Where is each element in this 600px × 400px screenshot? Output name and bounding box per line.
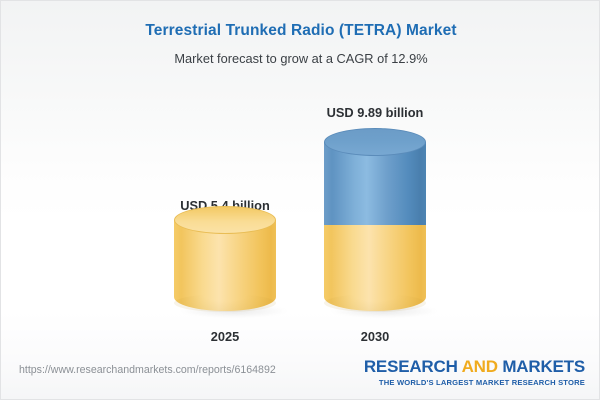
logo-wordmark: RESEARCH AND MARKETS bbox=[364, 357, 585, 376]
page-title: Terrestrial Trunked Radio (TETRA) Market bbox=[1, 21, 600, 41]
footer: https://www.researchandmarkets.com/repor… bbox=[1, 347, 600, 399]
x-axis-label-2025: 2025 bbox=[174, 329, 276, 344]
bar-value-label-2030: USD 9.89 billion bbox=[284, 105, 466, 120]
logo-word-research: RESEARCH bbox=[364, 357, 458, 376]
report-url[interactable]: https://www.researchandmarkets.com/repor… bbox=[19, 364, 276, 376]
logo-word-and: AND bbox=[462, 357, 498, 376]
chart-subtitle: Market forecast to grow at a CAGR of 12.… bbox=[1, 50, 600, 67]
bar-segment-base-2030 bbox=[324, 225, 426, 311]
cylinder-top-cap-2025 bbox=[174, 206, 276, 234]
chart-header: Terrestrial Trunked Radio (TETRA) Market… bbox=[1, 21, 600, 67]
logo-word-markets: MARKETS bbox=[502, 357, 585, 376]
market-infographic: Terrestrial Trunked Radio (TETRA) Market… bbox=[0, 0, 600, 400]
cylinder-bar-2030 bbox=[324, 128, 426, 311]
cylinder-bar-2025 bbox=[174, 206, 276, 311]
chart-plot-area: USD 5.4 billion 2025 USD 9.89 billion bbox=[1, 86, 600, 346]
research-and-markets-logo[interactable]: RESEARCH AND MARKETS THE WORLD'S LARGEST… bbox=[364, 357, 585, 387]
x-axis-label-2030: 2030 bbox=[324, 329, 426, 344]
cylinder-body-2030 bbox=[324, 142, 426, 311]
logo-tagline: THE WORLD'S LARGEST MARKET RESEARCH STOR… bbox=[364, 378, 585, 387]
cylinder-top-cap-2030 bbox=[324, 128, 426, 156]
